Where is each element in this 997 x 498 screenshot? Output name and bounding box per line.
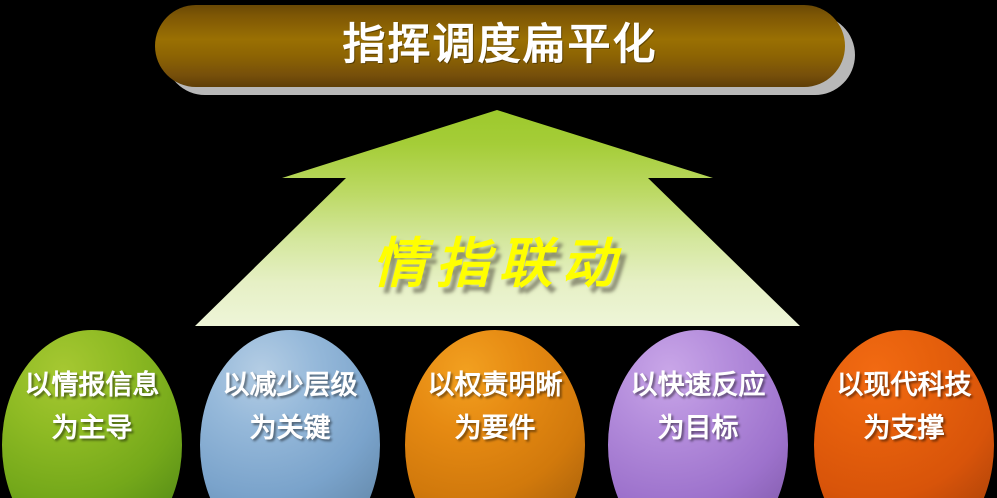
- pillar-label-line2: 为要件: [455, 415, 536, 442]
- pillar-label-line1: 以情报信息: [25, 372, 160, 399]
- pillar-label-line1: 以减少层级: [223, 372, 358, 399]
- pillar-label-line1: 以现代科技: [837, 372, 972, 399]
- pillar-label-line1: 以权责明晰: [428, 372, 563, 399]
- pillar-reduce-levels[interactable]: 以减少层级 为关键: [200, 330, 380, 498]
- pillar-label-line2: 为支撑: [864, 415, 945, 442]
- pillar-label-line2: 为关键: [250, 415, 331, 442]
- pillar-label-line2: 为主导: [52, 415, 133, 442]
- pillar-rapid-response[interactable]: 以快速反应 为目标: [608, 330, 788, 498]
- diagram-canvas: 指挥调度扁平化 情指联动 以情报信息 为主导 以减少层级 为关键: [0, 0, 997, 498]
- arrow-caption-label: 情指联动: [0, 236, 997, 290]
- pillar-label-line1: 以快速反应: [631, 372, 766, 399]
- title-banner: 指挥调度扁平化: [155, 5, 845, 87]
- pillar-clear-responsibility[interactable]: 以权责明晰 为要件: [405, 330, 585, 498]
- pillar-intelligence-information[interactable]: 以情报信息 为主导: [2, 330, 182, 498]
- title-banner-label: 指挥调度扁平化: [343, 24, 658, 67]
- pillar-modern-technology[interactable]: 以现代科技 为支撑: [814, 330, 994, 498]
- pillar-label-line2: 为目标: [658, 415, 739, 442]
